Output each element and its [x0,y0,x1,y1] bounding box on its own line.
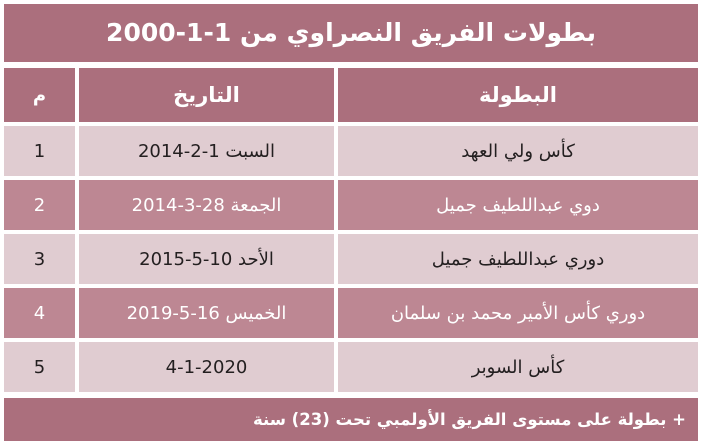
cell-date: الجمعة 28-3-2014 [79,180,334,230]
cell-number: 5 [4,342,75,392]
column-header-number: م [4,68,75,122]
table-row: دوري كأس الأمير محمد بن سلمان الخميس 16-… [4,288,698,338]
table-row: كأس ولي العهد السبت 1-2-2014 1 [4,126,698,176]
cell-date: الأحد 10-5-2015 [79,234,334,284]
column-header-date: التاريخ [79,68,334,122]
cell-number: 3 [4,234,75,284]
footnote-text: + بطولة على مستوى الفريق الأولمبي تحت (2… [253,410,686,429]
table-row: دوري عبداللطيف جميل الأحد 10-5-2015 3 [4,234,698,284]
cell-number: 4 [4,288,75,338]
column-header-tournament: البطولة [338,68,698,122]
championships-infographic: بطولات الفريق النصراوي من 1-1-2000 البطو… [0,0,702,418]
cell-tournament: دوي عبداللطيف جميل [338,180,698,230]
table-row: كأس السوبر 4-1-2020 5 [4,342,698,392]
cell-date: الخميس 16-5-2019 [79,288,334,338]
footnote-banner: + بطولة على مستوى الفريق الأولمبي تحت (2… [4,398,698,441]
championships-table: البطولة التاريخ م كأس ولي العهد السبت 1-… [4,68,698,392]
cell-tournament: دوري عبداللطيف جميل [338,234,698,284]
cell-date: السبت 1-2-2014 [79,126,334,176]
title-banner: بطولات الفريق النصراوي من 1-1-2000 [4,4,698,62]
cell-date: 4-1-2020 [79,342,334,392]
cell-tournament: دوري كأس الأمير محمد بن سلمان [338,288,698,338]
table-row: دوي عبداللطيف جميل الجمعة 28-3-2014 2 [4,180,698,230]
cell-tournament: كأس ولي العهد [338,126,698,176]
cell-number: 1 [4,126,75,176]
page-title: بطولات الفريق النصراوي من 1-1-2000 [106,19,596,47]
cell-number: 2 [4,180,75,230]
table-header-row: البطولة التاريخ م [4,68,698,122]
cell-tournament: كأس السوبر [338,342,698,392]
